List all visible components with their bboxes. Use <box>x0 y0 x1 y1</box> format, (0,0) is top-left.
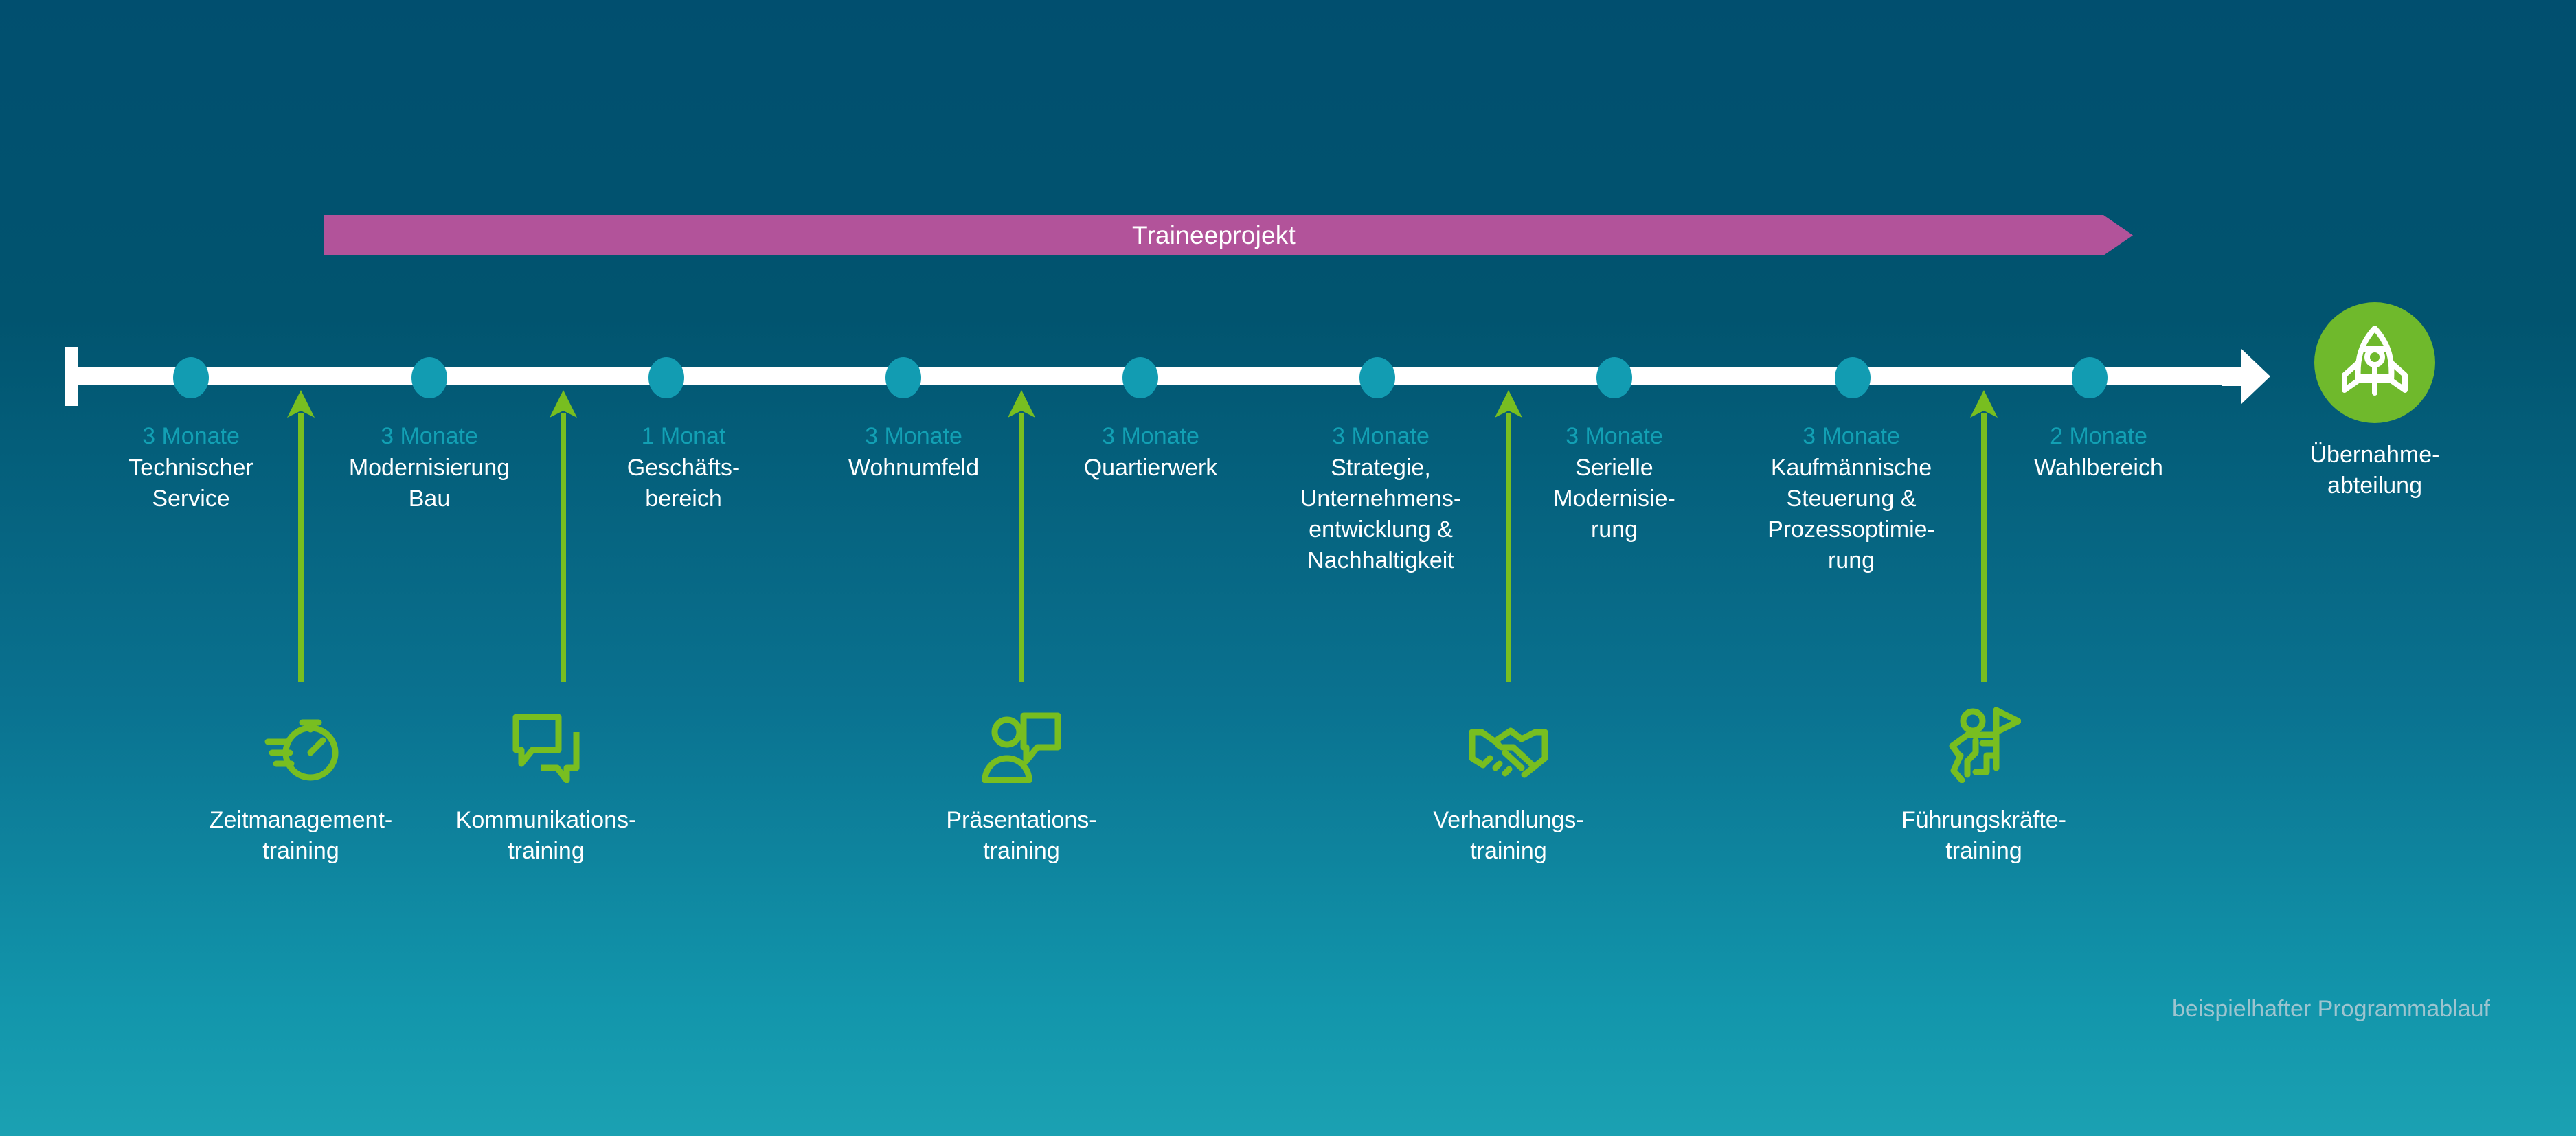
training-5-label: Führungskräfte- training <box>1877 805 2090 867</box>
phase-8[interactable]: 3 Monate Kaufmännische Steuerung & Proze… <box>1731 421 1971 576</box>
endpoint-uebernahmeabteilung[interactable]: Übernahme- abteilung <box>2272 302 2478 501</box>
phase-2-months: 3 Monate <box>313 421 546 451</box>
training-1-label-line-1: Zeitmanagement- <box>194 805 407 836</box>
endpoint-label-line-1: Übernahme- <box>2272 440 2478 470</box>
endpoint-label: Übernahme- abteilung <box>2272 440 2478 501</box>
connector-arrow-4 <box>1495 390 1522 682</box>
phase-1-name-line-1: Technischer <box>88 453 294 484</box>
training-1[interactable]: Zeitmanagement- training <box>194 707 407 867</box>
phase-9-months: 2 Monate <box>1989 421 2208 451</box>
phase-3-name: Geschäfts- bereich <box>580 453 787 514</box>
timeline-start-cap <box>65 347 78 406</box>
training-2-label-line-1: Kommunikations- <box>440 805 653 836</box>
connector-arrow-2 <box>550 390 577 682</box>
phase-6-name-line-4: Nachhaltigkeit <box>1264 545 1498 576</box>
training-1-label: Zeitmanagement- training <box>194 805 407 867</box>
phase-9-name-line-1: Wahlbereich <box>1989 453 2208 484</box>
milestone-dot-2[interactable] <box>411 357 447 398</box>
milestone-dot-3[interactable] <box>648 357 684 398</box>
stopwatch-icon <box>194 707 407 783</box>
phase-6-months: 3 Monate <box>1264 421 1498 451</box>
milestone-dot-4[interactable] <box>885 357 921 398</box>
training-3-label: Präsentations- training <box>915 805 1128 867</box>
rocket-badge <box>2314 302 2435 423</box>
training-2-label: Kommunikations- training <box>440 805 653 867</box>
phase-1-name-line-2: Service <box>88 484 294 514</box>
phase-7-name-line-3: rung <box>1522 514 1707 545</box>
training-2-label-line-2: training <box>440 836 653 867</box>
handshake-icon <box>1402 707 1615 783</box>
phase-6-name-line-1: Strategie, <box>1264 453 1498 484</box>
milestone-dot-8[interactable] <box>1835 357 1871 398</box>
phase-3[interactable]: 1 Monat Geschäfts- bereich <box>580 421 787 514</box>
timeline-bar <box>78 367 2242 385</box>
phase-1-months: 3 Monate <box>88 421 294 451</box>
phase-8-name-line-4: rung <box>1731 545 1971 576</box>
traineeprojekt-banner: Traineeprojekt <box>324 215 2133 255</box>
phase-2-name: Modernisierung Bau <box>313 453 546 514</box>
phase-7-name-line-1: Serielle <box>1522 453 1707 484</box>
phase-5-name: Quartierwerk <box>1037 453 1264 484</box>
phase-7-months: 3 Monate <box>1522 421 1707 451</box>
presenter-icon <box>915 707 1128 783</box>
training-3-label-line-2: training <box>915 836 1128 867</box>
timeline-arrow-head <box>2222 349 2270 404</box>
caption-text: beispielhafter Programmablauf <box>2172 996 2490 1023</box>
training-2[interactable]: Kommunikations- training <box>440 707 653 867</box>
training-4-label-line-2: training <box>1402 836 1615 867</box>
training-5-label-line-2: training <box>1877 836 2090 867</box>
training-1-label-line-2: training <box>194 836 407 867</box>
training-3[interactable]: Präsentations- training <box>915 707 1128 867</box>
phase-8-name: Kaufmännische Steuerung & Prozessoptimie… <box>1731 453 1971 576</box>
phase-4[interactable]: 3 Monate Wohnumfeld <box>800 421 1027 484</box>
phase-4-name-line-1: Wohnumfeld <box>800 453 1027 484</box>
phase-5-name-line-1: Quartierwerk <box>1037 453 1264 484</box>
banner-arrow-shape <box>324 215 2133 255</box>
phase-9[interactable]: 2 Monate Wahlbereich <box>1989 421 2208 484</box>
milestone-dot-7[interactable] <box>1596 357 1632 398</box>
phase-5[interactable]: 3 Monate Quartierwerk <box>1037 421 1264 484</box>
phase-1-name: Technischer Service <box>88 453 294 514</box>
phase-3-name-line-1: Geschäfts- <box>580 453 787 484</box>
training-4-label-line-1: Verhandlungs- <box>1402 805 1615 836</box>
phase-7[interactable]: 3 Monate Serielle Modernisie- rung <box>1522 421 1707 545</box>
phase-4-months: 3 Monate <box>800 421 1027 451</box>
phase-2-name-line-2: Bau <box>313 484 546 514</box>
phase-5-months: 3 Monate <box>1037 421 1264 451</box>
phase-8-months: 3 Monate <box>1731 421 1971 451</box>
phase-6-name-line-3: entwicklung & <box>1264 514 1498 545</box>
milestone-dot-6[interactable] <box>1359 357 1395 398</box>
phase-8-name-line-3: Prozessoptimie- <box>1731 514 1971 545</box>
speech-bubbles-icon <box>440 707 653 783</box>
training-4-label: Verhandlungs- training <box>1402 805 1615 867</box>
runner-flag-icon <box>1877 707 2090 783</box>
phase-2-name-line-1: Modernisierung <box>313 453 546 484</box>
milestone-dot-5[interactable] <box>1122 357 1158 398</box>
phase-7-name-line-2: Modernisie- <box>1522 484 1707 514</box>
training-3-label-line-1: Präsentations- <box>915 805 1128 836</box>
phase-8-name-line-1: Kaufmännische <box>1731 453 1971 484</box>
phase-6-name: Strategie, Unternehmens- entwicklung & N… <box>1264 453 1498 576</box>
phase-9-name: Wahlbereich <box>1989 453 2208 484</box>
phase-4-name: Wohnumfeld <box>800 453 1027 484</box>
phase-7-name: Serielle Modernisie- rung <box>1522 453 1707 545</box>
phase-6-name-line-2: Unternehmens- <box>1264 484 1498 514</box>
phase-6[interactable]: 3 Monate Strategie, Unternehmens- entwic… <box>1264 421 1498 576</box>
timeline-axis <box>65 342 2270 411</box>
rocket-icon <box>2339 324 2410 401</box>
training-4[interactable]: Verhandlungs- training <box>1402 707 1615 867</box>
endpoint-label-line-2: abteilung <box>2272 470 2478 501</box>
training-5-label-line-1: Führungskräfte- <box>1877 805 2090 836</box>
milestone-dot-1[interactable] <box>173 357 209 398</box>
infographic-canvas: Traineeprojekt 3 M <box>0 0 2576 1136</box>
training-5[interactable]: Führungskräfte- training <box>1877 707 2090 867</box>
milestone-dot-9[interactable] <box>2072 357 2108 398</box>
phase-3-months: 1 Monat <box>580 421 787 451</box>
phase-1[interactable]: 3 Monate Technischer Service <box>88 421 294 514</box>
phase-2[interactable]: 3 Monate Modernisierung Bau <box>313 421 546 514</box>
phase-3-name-line-2: bereich <box>580 484 787 514</box>
phase-8-name-line-2: Steuerung & <box>1731 484 1971 514</box>
